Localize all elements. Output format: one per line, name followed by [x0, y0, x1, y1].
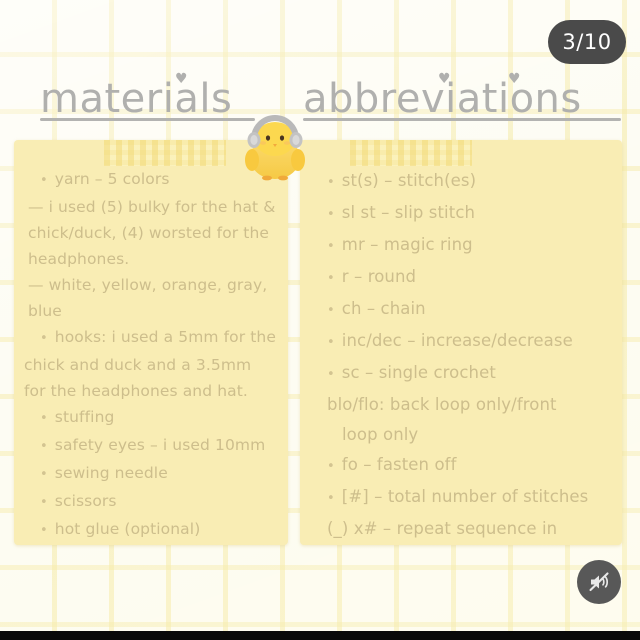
list-item: sl st – slip stitch — [310, 198, 612, 230]
list-item: chick and duck and a 3.5mm — [24, 352, 278, 378]
page-indicator-label: 3/10 — [562, 30, 611, 54]
list-item: for the headphones and hat. — [24, 378, 278, 404]
list-item: hot glue (optional) — [24, 516, 278, 544]
page-indicator-badge: 3/10 — [548, 20, 626, 64]
abbreviations-card: st(s) – stitch(es)sl st – slip stitchmr … — [300, 140, 622, 545]
list-item: ch – chain — [310, 294, 612, 326]
list-item: [#] – total number of stitches — [310, 482, 612, 514]
list-item: — i used (5) bulky for the hat & — [24, 194, 278, 220]
list-item: stuffing — [24, 404, 278, 432]
heart-dot-icon: ♥ — [175, 72, 188, 86]
list-item: chick/duck, (4) worsted for the — [24, 220, 278, 246]
list-item: sc – single crochet — [310, 358, 612, 390]
list-item: sewing needle — [24, 460, 278, 488]
list-item: — white, yellow, orange, gray, — [24, 272, 278, 298]
list-item: fo – fasten off — [310, 450, 612, 482]
list-item: parentheses # times — [310, 544, 612, 545]
materials-card: yarn – 5 colors— i used (5) bulky for th… — [14, 140, 288, 545]
list-item: blue — [24, 298, 278, 324]
list-item: inc/dec – increase/decrease — [310, 326, 612, 358]
heading-materials-text: materials — [40, 76, 232, 122]
list-item: blo/flo: back loop only/front — [310, 390, 612, 420]
mute-button[interactable] — [577, 560, 621, 604]
heart-dot-icon: ♥ — [508, 72, 521, 86]
list-item: safety eyes – i used 10mm — [24, 432, 278, 460]
heart-dot-icon: ♥ — [438, 72, 451, 86]
list-item: (_) x# – repeat sequence in — [310, 514, 612, 544]
list-item: r – round — [310, 262, 612, 294]
list-item: loop only — [310, 420, 612, 450]
list-item: mr – magic ring — [310, 230, 612, 262]
list-item: felt (optional) — [24, 544, 278, 545]
list-item: scissors — [24, 488, 278, 516]
materials-list: yarn – 5 colors— i used (5) bulky for th… — [14, 140, 288, 545]
chick-with-headphones-sticker — [239, 112, 311, 182]
bottom-letterbox-bar — [0, 631, 640, 640]
page-title-materials: materials ♥ — [40, 76, 255, 121]
list-item: headphones. — [24, 246, 278, 272]
list-item: hooks: i used a 5mm for the — [24, 324, 278, 352]
slide-screen: materials ♥ abbreviations ♥ ♥ yarn – 5 c… — [0, 0, 640, 640]
list-item: st(s) – stitch(es) — [310, 166, 612, 198]
abbreviations-list: st(s) – stitch(es)sl st – slip stitchmr … — [300, 140, 622, 545]
speaker-muted-icon — [587, 570, 611, 594]
page-title-abbreviations: abbreviations ♥ ♥ — [303, 76, 621, 121]
